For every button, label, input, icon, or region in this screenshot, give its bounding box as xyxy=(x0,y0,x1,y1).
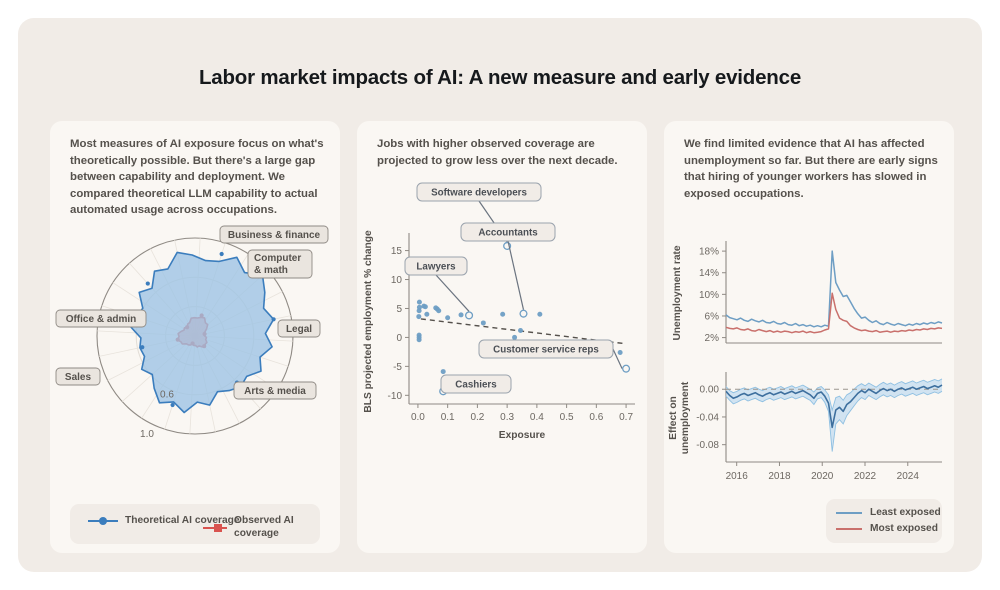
legend-square-icon xyxy=(214,524,222,532)
svg-text:15: 15 xyxy=(391,246,403,257)
svg-text:-0.08: -0.08 xyxy=(696,440,719,451)
svg-text:Accountants: Accountants xyxy=(478,228,538,239)
legend-label-observed: Observed AI coverage xyxy=(234,515,320,541)
legend-line-most-exposed xyxy=(836,528,862,530)
svg-text:2016: 2016 xyxy=(726,471,749,482)
timeseries-legend: Least exposed Most exposed xyxy=(826,499,942,543)
svg-text:2%: 2% xyxy=(705,333,720,344)
svg-text:0.0: 0.0 xyxy=(411,412,425,423)
svg-text:0.3: 0.3 xyxy=(500,412,514,423)
svg-text:0.1: 0.1 xyxy=(441,412,455,423)
svg-text:14%: 14% xyxy=(699,268,719,279)
page-title: Labor market impacts of AI: A new measur… xyxy=(18,66,982,90)
svg-text:& math: & math xyxy=(254,265,288,276)
right-panel-blurb: We find limited evidence that AI has aff… xyxy=(684,136,942,202)
svg-text:0: 0 xyxy=(396,333,402,344)
legend-line-least-exposed xyxy=(836,512,862,514)
svg-text:18%: 18% xyxy=(699,247,719,258)
radar-legend: Theoretical AI coverage Observed AI cove… xyxy=(70,504,320,544)
svg-text:Office & admin: Office & admin xyxy=(66,314,137,325)
scatter-chart: 151050-5-100.00.10.20.30.40.50.60.7Expos… xyxy=(357,179,647,499)
effect-on-unemployment-chart: 0.00-0.04-0.0820162018202020222024Effect… xyxy=(664,364,954,504)
mid-panel-blurb: Jobs with higher observed coverage are p… xyxy=(377,136,635,169)
svg-text:Legal: Legal xyxy=(286,324,312,335)
svg-text:Business & finance: Business & finance xyxy=(228,230,321,241)
legend-line-theoretical xyxy=(88,520,118,522)
svg-text:Effect on: Effect on xyxy=(668,396,679,440)
svg-text:5: 5 xyxy=(396,304,402,315)
legend-label-least-exposed: Least exposed xyxy=(870,507,941,518)
svg-text:-0.04: -0.04 xyxy=(696,412,719,423)
legend-item-most-exposed: Most exposed xyxy=(836,523,941,534)
legend-label-most-exposed: Most exposed xyxy=(870,523,938,534)
svg-text:Customer service reps: Customer service reps xyxy=(493,345,599,356)
svg-text:Exposure: Exposure xyxy=(499,430,546,441)
svg-text:Arts & media: Arts & media xyxy=(244,386,306,397)
svg-text:0.7: 0.7 xyxy=(619,412,633,423)
svg-text:Sales: Sales xyxy=(65,372,92,383)
legend-item-least-exposed: Least exposed xyxy=(836,507,941,518)
svg-text:Lawyers: Lawyers xyxy=(416,262,456,273)
svg-text:BLS projected employment % cha: BLS projected employment % change xyxy=(363,230,374,413)
svg-text:2022: 2022 xyxy=(854,471,877,482)
svg-text:1.0: 1.0 xyxy=(140,429,154,440)
panel-ai-coverage: Most measures of AI exposure focus on wh… xyxy=(50,121,340,553)
svg-text:Unemployment rate: Unemployment rate xyxy=(672,245,683,340)
svg-text:0.6: 0.6 xyxy=(589,412,603,423)
svg-text:0.4: 0.4 xyxy=(530,412,544,423)
svg-text:Cashiers: Cashiers xyxy=(455,380,497,391)
svg-text:0.6: 0.6 xyxy=(160,390,174,401)
svg-text:6%: 6% xyxy=(705,311,720,322)
left-panel-blurb: Most measures of AI exposure focus on wh… xyxy=(70,136,328,219)
svg-text:unemployment: unemployment xyxy=(680,381,691,454)
svg-text:2020: 2020 xyxy=(811,471,834,482)
radar-chart: Business & financeComputer& mathLegalArt… xyxy=(50,216,340,486)
svg-text:Computer: Computer xyxy=(254,253,301,264)
svg-text:-10: -10 xyxy=(388,391,403,402)
panel-exposure-scatter: Jobs with higher observed coverage are p… xyxy=(357,121,647,553)
svg-text:0.5: 0.5 xyxy=(560,412,574,423)
legend-circle-icon xyxy=(99,517,107,525)
svg-text:2018: 2018 xyxy=(768,471,791,482)
svg-text:Software developers: Software developers xyxy=(431,188,527,199)
svg-text:2024: 2024 xyxy=(897,471,920,482)
svg-text:0.00: 0.00 xyxy=(700,385,720,396)
unemployment-rate-chart: 2%6%10%14%18%Unemployment rate xyxy=(664,231,954,371)
svg-text:10: 10 xyxy=(391,275,403,286)
svg-text:0.2: 0.2 xyxy=(470,412,484,423)
legend-item-observed: Observed AI coverage xyxy=(203,515,320,541)
svg-text:10%: 10% xyxy=(699,290,719,301)
panel-unemployment: We find limited evidence that AI has aff… xyxy=(664,121,954,553)
svg-text:-5: -5 xyxy=(393,362,402,373)
infographic-card: Labor market impacts of AI: A new measur… xyxy=(18,18,982,572)
legend-line-observed xyxy=(203,527,227,529)
